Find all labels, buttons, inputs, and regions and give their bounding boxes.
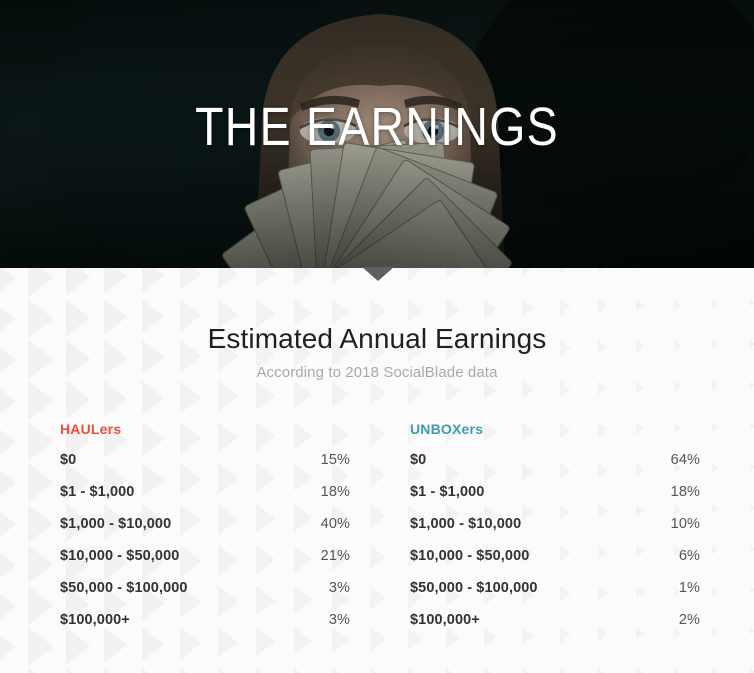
- row-value: 3%: [329, 580, 350, 596]
- column-unboxers: UNBOXers $0 64% $1 - $1,000 18% $1,000 -…: [377, 420, 754, 644]
- table-row: $100,000+ 3%: [60, 612, 350, 644]
- hero-title: THE EARNINGS: [53, 98, 701, 156]
- row-label: $1,000 - $10,000: [60, 516, 171, 532]
- table-row: $50,000 - $100,000 3%: [60, 580, 350, 612]
- row-value: 2%: [679, 612, 700, 628]
- column-heading-haulers: HAULers: [60, 420, 350, 438]
- column-haulers: HAULers $0 15% $1 - $1,000 18% $1,000 - …: [0, 420, 377, 644]
- row-value: 18%: [321, 484, 350, 500]
- row-label: $0: [60, 452, 76, 468]
- row-value: 10%: [671, 516, 700, 532]
- table-row: $10,000 - $50,000 21%: [60, 548, 350, 580]
- table-row: $100,000+ 2%: [410, 612, 700, 644]
- row-value: 40%: [321, 516, 350, 532]
- table-row: $10,000 - $50,000 6%: [410, 548, 700, 580]
- row-value: 15%: [321, 452, 350, 468]
- row-value: 18%: [671, 484, 700, 500]
- hero-notch-triangle-icon: [362, 267, 394, 281]
- row-label: $0: [410, 452, 426, 468]
- earnings-infographic-page: THE EARNINGS Estimated Annual Earnings A…: [0, 0, 754, 673]
- row-label: $50,000 - $100,000: [60, 580, 188, 596]
- table-row: $1,000 - $10,000 10%: [410, 516, 700, 548]
- column-heading-unboxers: UNBOXers: [410, 420, 700, 438]
- page-subtitle: According to 2018 SocialBlade data: [0, 363, 754, 383]
- row-label: $50,000 - $100,000: [410, 580, 538, 596]
- table-row: $0 64%: [410, 452, 700, 484]
- row-value: 1%: [679, 580, 700, 596]
- row-label: $1 - $1,000: [410, 484, 484, 500]
- row-label: $10,000 - $50,000: [60, 548, 179, 564]
- table-row: $1 - $1,000 18%: [410, 484, 700, 516]
- row-label: $1,000 - $10,000: [410, 516, 521, 532]
- page-title: Estimated Annual Earnings: [0, 322, 754, 356]
- table-row: $1 - $1,000 18%: [60, 484, 350, 516]
- earnings-content-section: Estimated Annual Earnings According to 2…: [0, 268, 754, 673]
- earnings-columns: HAULers $0 15% $1 - $1,000 18% $1,000 - …: [0, 420, 754, 644]
- row-label: $10,000 - $50,000: [410, 548, 529, 564]
- hero-banner: THE EARNINGS: [0, 0, 754, 268]
- table-row: $50,000 - $100,000 1%: [410, 580, 700, 612]
- row-value: 6%: [679, 548, 700, 564]
- row-value: 21%: [321, 548, 350, 564]
- row-label: $1 - $1,000: [60, 484, 134, 500]
- row-label: $100,000+: [60, 612, 130, 628]
- row-value: 3%: [329, 612, 350, 628]
- table-row: $0 15%: [60, 452, 350, 484]
- row-label: $100,000+: [410, 612, 480, 628]
- row-value: 64%: [671, 452, 700, 468]
- table-row: $1,000 - $10,000 40%: [60, 516, 350, 548]
